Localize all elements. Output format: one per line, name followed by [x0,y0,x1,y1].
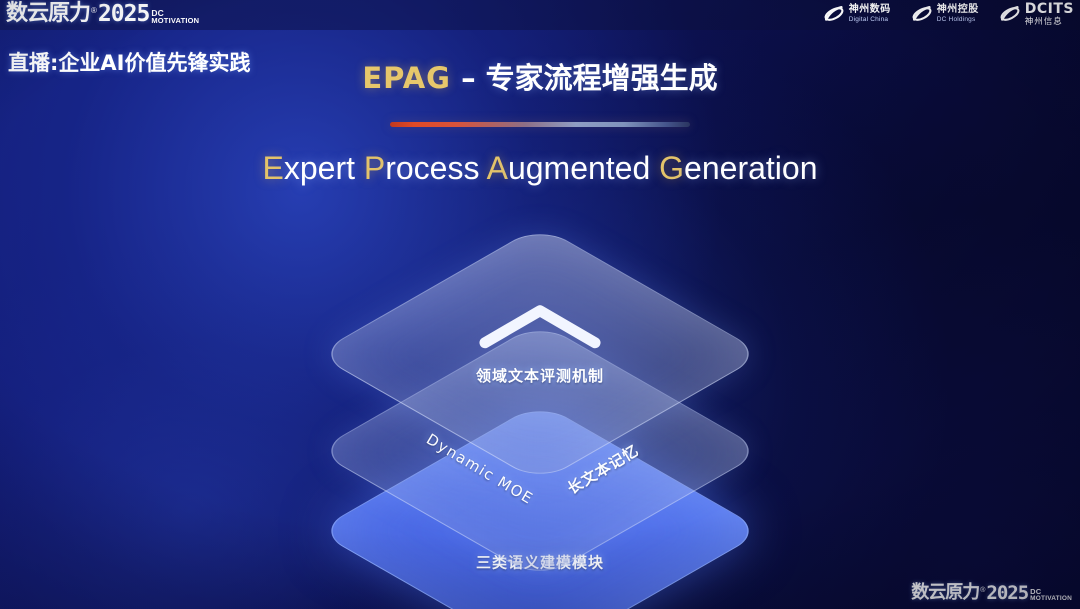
subtitle-word-process: Process [364,150,480,186]
subtitle-word-augmented: Augmented [487,150,651,186]
partner-text: DCITS 神州信息 [1025,2,1074,27]
partner-name-en: DC Holdings [937,17,979,24]
brand-logo-registered: ® [91,3,97,19]
partner-text: 神州控股 DC Holdings [937,5,979,24]
partner-name-en: Digital China [849,17,891,24]
partner-name-cn: 神州数码 [849,5,891,15]
brand-logo-cn: 数云原力 [6,2,90,26]
partner-name-cn: 神州控股 [937,5,979,15]
chevron-up-icon [475,299,605,358]
slide-subtitle: Expert Process Augmented Generation [0,150,1080,187]
subtitle-cap: P [364,150,385,186]
subtitle-word-generation: Generation [659,150,817,186]
partner-logo-dcits: DCITS 神州信息 [999,2,1074,27]
subtitle-cap: A [487,150,508,186]
brand-logo-year: 2025 [98,2,149,26]
subtitle-rest: ugmented [508,150,650,186]
brand-logo-subtitle: DC MOTIVATION [151,9,199,26]
watermark-registered: ® [980,584,985,597]
watermark-cn: 数云原力 [911,583,979,603]
swoosh-logo-icon [911,3,933,25]
slide-title-acronym: EPAG [362,61,451,95]
slide-title-rest: – 专家流程增强生成 [451,61,718,95]
watermark-sub-line1: DC [1030,588,1072,595]
swoosh-logo-icon [823,3,845,25]
slide-stage: 数云原力 ® 2025 DC MOTIVATION 直播:企业AI价值先锋实践 … [0,0,1080,609]
swoosh-logo-icon [999,3,1021,25]
partner-text: 神州数码 Digital China [849,5,891,24]
watermark-year: 2025 [986,583,1028,603]
brand-logo: 数云原力 ® 2025 DC MOTIVATION [6,2,199,26]
title-divider [390,122,690,127]
subtitle-rest: rocess [385,150,479,186]
slide-title: EPAG – 专家流程增强生成 [0,55,1080,97]
partner-name-cn: 神州信息 [1025,18,1074,27]
partner-logo-dc-holdings: 神州控股 DC Holdings [911,3,979,25]
partner-logo-digital-china: 神州数码 Digital China [823,3,891,25]
partner-logo-group: 神州数码 Digital China 神州控股 DC Holdings [823,2,1074,27]
subtitle-cap: E [263,150,284,186]
diagram-layer-top[interactable]: 领域文本评测机制 [381,263,699,445]
watermark-sub-line2: MOTIVATION [1030,595,1072,602]
partner-name-en: DCITS [1025,2,1074,16]
subtitle-rest: xpert [284,150,355,186]
brand-logo-sub-line2: MOTIVATION [151,17,199,25]
watermark-logo: 数云原力 ® 2025 DC MOTIVATION [911,583,1072,603]
subtitle-cap: G [659,150,684,186]
subtitle-word-expert: Expert [263,150,355,186]
subtitle-rest: eneration [684,150,817,186]
watermark-subtitle: DC MOTIVATION [1030,588,1072,603]
